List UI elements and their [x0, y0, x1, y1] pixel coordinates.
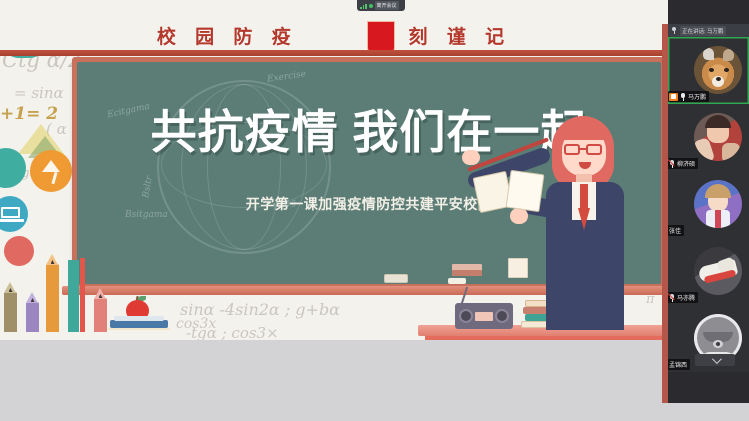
person-photo-avatar — [694, 113, 742, 161]
active-speaker-label: 正在讲话: 马万鹏 — [680, 26, 726, 36]
colored-pencil — [4, 292, 17, 332]
participant-name-chip: 马亦腾 — [668, 292, 698, 303]
anime-photo-avatar — [694, 180, 742, 228]
colored-pencil — [46, 264, 59, 332]
formula-text: = sinα — [14, 84, 64, 102]
dna-icon — [4, 236, 34, 266]
participant-tile[interactable]: 马万鹏 — [668, 37, 749, 104]
colored-pencil — [26, 302, 39, 332]
participant-name: 孟锦西 — [669, 360, 687, 369]
participant-name-chip: 孟锦西 — [668, 359, 690, 370]
red-flag-icon — [368, 22, 394, 52]
participant-tile[interactable]: 马亦腾 — [668, 238, 749, 305]
participants-sidebar: 正在讲话: 马万鹏 马万鹏 — [668, 0, 749, 403]
microphone-icon — [671, 27, 677, 34]
host-badge-icon — [669, 93, 678, 101]
participant-name: 张佳 — [669, 226, 681, 235]
eraser-icon — [384, 274, 408, 283]
participant-name: 马亦腾 — [677, 293, 695, 302]
active-speaker-bar: 正在讲话: 马万鹏 — [668, 24, 749, 37]
chevron-down-icon — [711, 354, 721, 364]
banner-title-row: 校 园 防 疫 时 刻 谨 记 — [0, 22, 668, 49]
banner-title-left: 校 园 防 疫 — [157, 27, 298, 48]
leave-meeting-button[interactable]: 离开会议 — [375, 1, 399, 10]
dog-photo-avatar — [694, 46, 742, 94]
floor-book — [114, 316, 164, 321]
shared-screen-slide[interactable]: ctg ½ = -y Ctg α/2 = sinα +1= 2 ( α tgα … — [0, 0, 668, 340]
book-small — [452, 270, 482, 276]
boombox-radio-icon — [455, 303, 513, 329]
participant-name-chip: 马万鹏 — [668, 91, 709, 102]
sidebar-bottom-filler — [668, 403, 749, 421]
participant-name: 柳济硕 — [677, 159, 695, 168]
colored-pencil — [68, 260, 79, 332]
banner-underline — [0, 50, 668, 56]
slide-banner: 校 园 防 疫 时 刻 谨 记 — [0, 0, 668, 56]
chalk-stick-icon — [448, 278, 466, 284]
participant-tile[interactable]: 张佳 — [668, 171, 749, 238]
meeting-float-toolbar[interactable]: 离开会议 — [357, 0, 405, 11]
pencil-ruler-icon — [30, 150, 72, 192]
participant-name: 马万鹏 — [688, 92, 706, 101]
colored-pencil — [80, 258, 85, 332]
participant-name-chip: 张佳 — [668, 225, 684, 236]
participant-tile[interactable]: 柳济硕 — [668, 104, 749, 171]
microphone-icon — [680, 93, 686, 101]
green-status-dot-icon — [369, 4, 373, 8]
teacher-character-illustration — [524, 112, 652, 330]
chalk-word: Exercise — [266, 69, 306, 84]
colored-pencil — [94, 298, 107, 332]
show-more-participants[interactable] — [695, 354, 735, 366]
signal-bars-icon — [360, 3, 367, 9]
formula-text: cos3x — [176, 316, 216, 332]
meeting-window: ctg ½ = -y Ctg α/2 = sinα +1= 2 ( α tgα … — [0, 0, 749, 421]
microphone-muted-icon — [669, 160, 675, 168]
floor-book — [108, 328, 170, 330]
participant-tile[interactable]: 孟锦西 — [668, 305, 749, 372]
shoe-photo-avatar — [694, 247, 742, 295]
microphone-muted-icon — [669, 294, 675, 302]
participant-name-chip: 柳济硕 — [668, 158, 698, 169]
floor-book — [110, 320, 168, 328]
